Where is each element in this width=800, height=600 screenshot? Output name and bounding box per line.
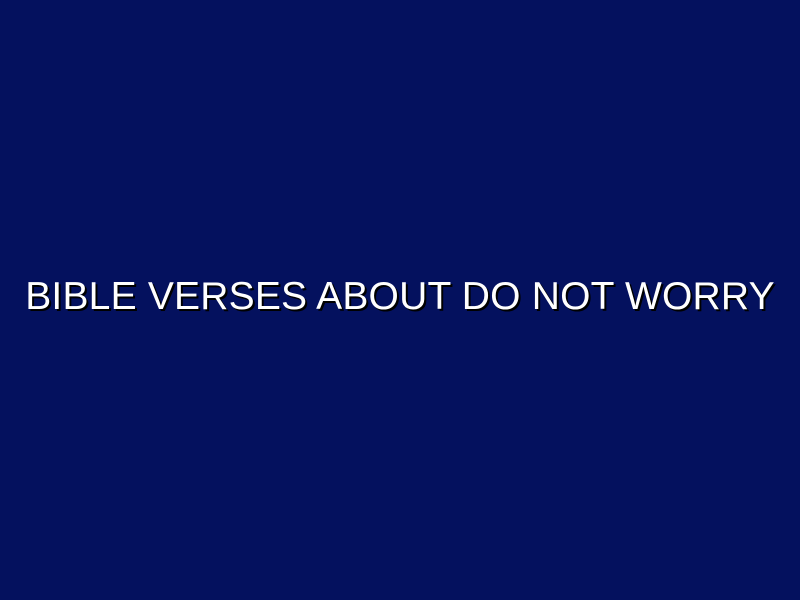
title-slide: BIBLE VERSES ABOUT DO NOT WORRY [0, 0, 800, 600]
slide-title: BIBLE VERSES ABOUT DO NOT WORRY [24, 273, 776, 321]
title-block: BIBLE VERSES ABOUT DO NOT WORRY [0, 273, 800, 321]
